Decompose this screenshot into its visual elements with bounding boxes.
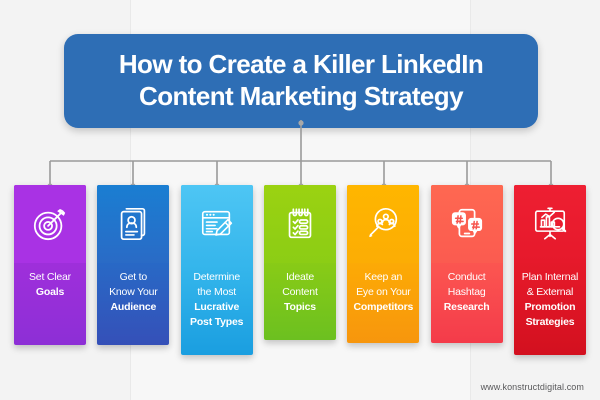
card-label-line: Goals: [17, 285, 83, 300]
card-label-line: Research: [434, 300, 500, 315]
header-title-line-1: How to Create a Killer LinkedIn: [119, 49, 483, 81]
card-label-line: Topics: [267, 300, 333, 315]
card-icon-wrap-5: [347, 185, 419, 263]
header-title-box: How to Create a Killer LinkedIn Content …: [64, 34, 538, 128]
card-label-line: Know Your: [100, 285, 166, 300]
card-icon-wrap-4: [264, 185, 336, 263]
footer-website-url[interactable]: www.konstructdigital.com: [481, 382, 584, 392]
checklist-notepad-icon: [282, 205, 318, 243]
card-label-line: Keep an: [350, 270, 416, 285]
card-label-line: Determine: [184, 270, 250, 285]
card-label-line: Set Clear: [17, 270, 83, 285]
card-icon-wrap-2: [97, 185, 169, 263]
card-label-1: Set Clear Goals: [14, 263, 86, 345]
card-label-line: Get to: [100, 270, 166, 285]
card-label-line: Promotion: [517, 300, 583, 315]
card-label-line: Lucrative: [184, 300, 250, 315]
card-label-line: Audience: [100, 300, 166, 315]
card-label-line: Plan Internal: [517, 270, 583, 285]
card-label-line: Eye on Your: [350, 285, 416, 300]
card-label-line: Conduct: [434, 270, 500, 285]
card-label-5: Keep an Eye on Your Competitors: [347, 263, 419, 343]
target-goals-icon: [31, 205, 69, 243]
step-card-know-your-audience[interactable]: Get to Know Your Audience: [97, 185, 169, 345]
step-card-lucrative-post-types[interactable]: Determine the Most Lucrative Post Types: [181, 185, 253, 355]
step-card-promotion-strategies[interactable]: Plan Internal & External Promotion Strat…: [514, 185, 586, 355]
step-card-conduct-hashtag-research[interactable]: Conduct Hashtag Research: [431, 185, 503, 343]
card-label-3: Determine the Most Lucrative Post Types: [181, 263, 253, 355]
magnifier-people-icon: [364, 205, 402, 243]
card-icon-wrap-7: [514, 185, 586, 263]
card-icon-wrap-3: [181, 185, 253, 263]
card-label-line: Content: [267, 285, 333, 300]
header-title-line-2: Content Marketing Strategy: [139, 81, 463, 113]
browser-pencil-icon: [198, 205, 236, 243]
card-label-4: Ideate Content Topics: [264, 263, 336, 340]
step-card-set-clear-goals[interactable]: Set Clear Goals: [14, 185, 86, 345]
card-icon-wrap-6: [431, 185, 503, 263]
card-label-line: Strategies: [517, 315, 583, 330]
strategy-step-cards: Set Clear Goals Get to Know Your Audienc: [0, 185, 600, 355]
card-label-line: Ideate: [267, 270, 333, 285]
card-label-line: Competitors: [350, 300, 416, 315]
profile-card-icon: [115, 205, 151, 243]
presentation-chart-search-icon: [531, 205, 569, 243]
phone-hashtag-icon: [448, 205, 486, 243]
card-label-6: Conduct Hashtag Research: [431, 263, 503, 343]
card-label-line: & External: [517, 285, 583, 300]
card-icon-wrap-1: [14, 185, 86, 263]
card-label-2: Get to Know Your Audience: [97, 263, 169, 345]
step-card-ideate-content-topics[interactable]: Ideate Content Topics: [264, 185, 336, 340]
card-label-line: the Most: [184, 285, 250, 300]
card-label-7: Plan Internal & External Promotion Strat…: [514, 263, 586, 355]
step-card-keep-eye-competitors[interactable]: Keep an Eye on Your Competitors: [347, 185, 419, 343]
card-label-line: Post Types: [184, 315, 250, 330]
card-label-line: Hashtag: [434, 285, 500, 300]
infographic-canvas: How to Create a Killer LinkedIn Content …: [0, 0, 600, 400]
